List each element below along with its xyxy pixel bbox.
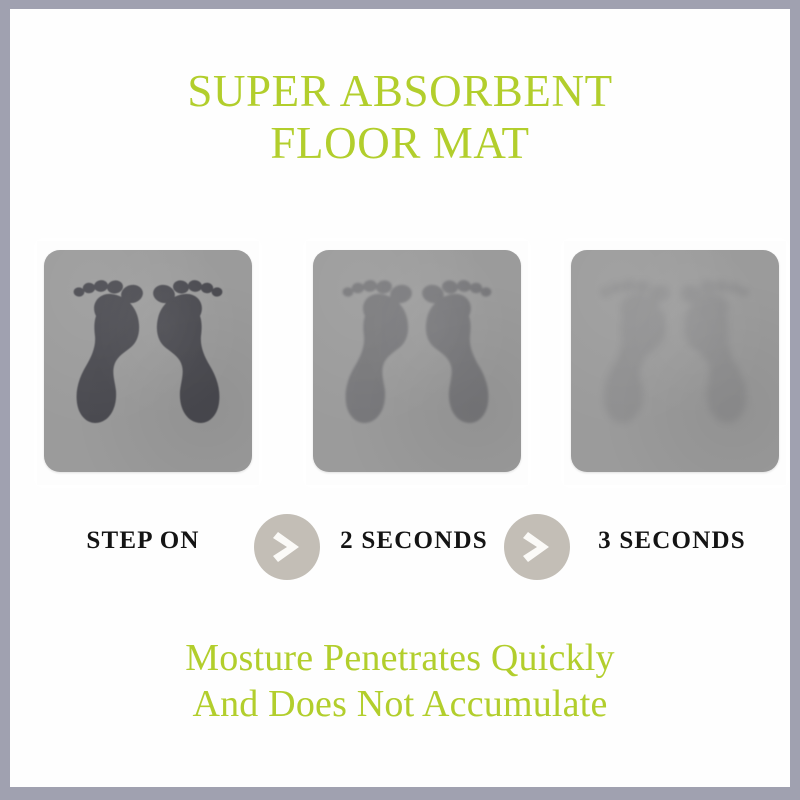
floor-mat-1 <box>44 250 252 472</box>
floor-mat-2 <box>313 250 521 472</box>
footprints-icon <box>595 272 755 440</box>
floor-mat-3 <box>571 250 779 472</box>
chevron-right-icon <box>504 514 570 580</box>
product-poster: SUPER ABSORBENT FLOOR MAT <box>0 0 800 800</box>
tagline: Mosture Penetrates Quickly And Does Not … <box>10 635 790 728</box>
mat-panel-step-1 <box>37 241 259 485</box>
tagline-line-2: And Does Not Accumulate <box>10 681 790 727</box>
footprints-icon <box>337 272 497 440</box>
title-line-1: SUPER ABSORBENT <box>10 65 790 117</box>
poster-canvas: SUPER ABSORBENT FLOOR MAT <box>10 9 790 787</box>
title-line-2: FLOOR MAT <box>10 117 790 169</box>
footprints-icon <box>68 272 228 440</box>
step-label-3-seconds: 3 SECONDS <box>566 527 778 555</box>
step-caption-row: STEP ON 2 SECONDS 3 SECONDS <box>10 505 790 591</box>
step-label-step-on: STEP ON <box>37 527 249 555</box>
tagline-line-1: Mosture Penetrates Quickly <box>10 635 790 681</box>
page-title: SUPER ABSORBENT FLOOR MAT <box>10 65 790 169</box>
mat-panel-step-3 <box>564 241 786 485</box>
mat-demo-row <box>10 241 790 485</box>
mat-panel-step-2 <box>306 241 528 485</box>
step-label-2-seconds: 2 SECONDS <box>308 527 520 555</box>
